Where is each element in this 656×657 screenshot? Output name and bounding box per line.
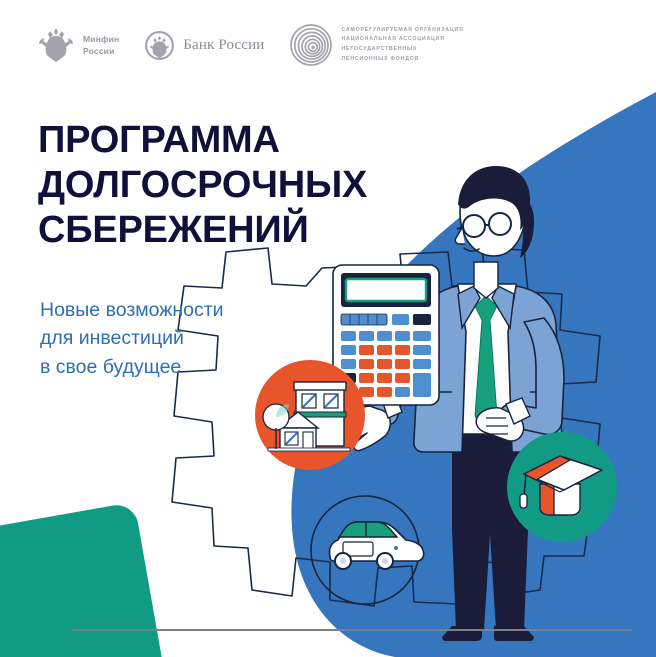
logo-minfin: Минфин России bbox=[38, 26, 119, 64]
page-subtitle: Новые возможности для инвестиций в свое … bbox=[40, 296, 224, 381]
logo-napf-label: САМОРЕГУЛИРУЕМАЯ ОРГАНИЗАЦИЯ НАЦИОНАЛЬНА… bbox=[341, 26, 463, 65]
ground-line bbox=[72, 629, 632, 631]
logo-bar: Минфин России Банк России bbox=[38, 24, 464, 66]
logo-bank-rossii: Банк России bbox=[145, 31, 264, 60]
graduation-cap-icon-circle bbox=[507, 432, 617, 542]
green-accent-shape bbox=[0, 502, 174, 657]
concentric-spiral-icon bbox=[290, 24, 332, 66]
logo-bank-rossii-label: Банк России bbox=[183, 37, 264, 54]
poster-root: Минфин России Банк России bbox=[0, 0, 656, 657]
house-icon-circle bbox=[255, 360, 365, 470]
logo-napf: САМОРЕГУЛИРУЕМАЯ ОРГАНИЗАЦИЯ НАЦИОНАЛЬНА… bbox=[290, 24, 463, 66]
bank-of-russia-eagle-icon bbox=[145, 31, 174, 60]
double-headed-eagle-icon bbox=[38, 26, 74, 64]
logo-minfin-label: Минфин России bbox=[83, 33, 119, 58]
page-title: ПРОГРАММА ДОЛГОСРОЧНЫХ СБЕРЕЖЕНИЙ bbox=[38, 118, 367, 252]
